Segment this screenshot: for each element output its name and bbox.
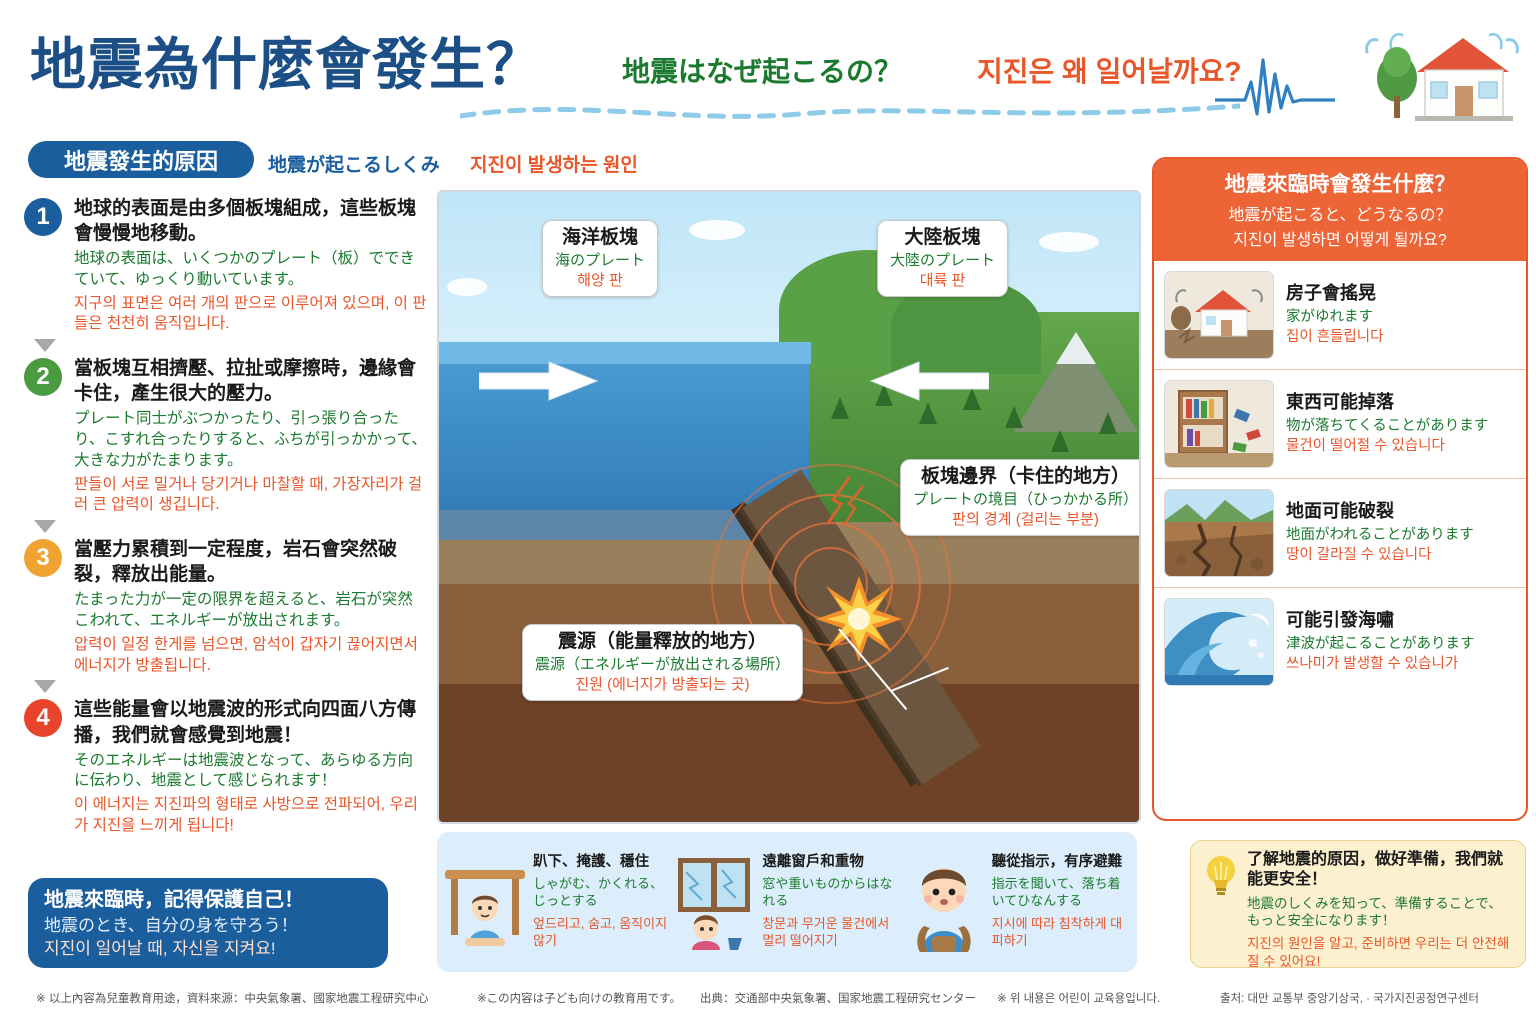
effect-text-zh: 地面可能破裂 [1286, 501, 1516, 523]
tip-text-ko: 지시에 따라 침착하게 대피하기 [992, 916, 1131, 950]
footer-note-ko: ※ 위 내용은 어린이 교육용입니다. [997, 990, 1160, 1006]
step-item: 2 當板塊互相擠壓、拉扯或摩擦時，邊緣會卡住，產生很大的壓力。 プレート同士がぶ… [24, 356, 428, 533]
label-text-zh: 震源（能量釋放的地方） [535, 631, 790, 654]
page-footer: ※ 以上內容為兒童教育用途，資料來源：中央氣象署、國家地震工程研究中心 ※この内… [0, 990, 1536, 1020]
effect-text-ja: 地面がわれることがあります [1286, 526, 1516, 545]
effect-text-ja: 津波が起こることがあります [1286, 635, 1516, 654]
label-continental-plate: 大陸板塊 大陸のプレート 대륙 판 [877, 220, 1008, 297]
tip-text-zh: 遠離窗戶和重物 [762, 854, 901, 871]
step-text-ja: そのエネルギーは地震波となって、あらゆる方向に伝わり、地震として感じられます！ [74, 751, 428, 793]
fault-crack-icon [819, 472, 879, 532]
footer-source-ja: 出典：交通部中央氣象署、国家地震工程研究センター [700, 990, 976, 1006]
effect-item: 地面可能破裂 地面がわれることがあります 땅이 갈라질 수 있습니다 [1154, 479, 1526, 588]
effect-text-ko: 물건이 떨어절 수 있습니다 [1286, 437, 1516, 456]
page-title-ja: 地震はなぜ起こるの？ [622, 50, 902, 90]
house-tree-icon [1355, 18, 1530, 133]
tree-icon [1099, 412, 1117, 434]
safety-tip-item: 聽從指示，有序避難 指示を聞いて、落ち着いてひなんする 지시에 따라 침착하게 … [902, 852, 1131, 952]
panel-title-ko: 지진이 발생하면 어떻게 될까요? [1164, 226, 1516, 250]
diagram-deep-layer [439, 684, 1141, 822]
label-text-zh: 板塊邊界（卡住的地方） [913, 466, 1138, 489]
panel-title-zh: 地震來臨時會發生什麼？ [1164, 168, 1516, 198]
oceanic-plate-slab [439, 510, 759, 540]
tip-text-ko: 엎드리고, 숨고, 움직이지 않기 [533, 916, 672, 950]
effect-text-ko: 집이 흔들립니다 [1286, 328, 1516, 347]
callout-text-ko: 지진이 일어날 때, 자신을 지켜요! [44, 938, 372, 960]
step-arrow-icon [34, 339, 56, 352]
falling-objects-icon [1164, 380, 1274, 468]
tree-icon [1005, 406, 1023, 428]
cloud-shape [1039, 232, 1099, 252]
step-text-zh: 地球的表面是由多個板塊組成，這些板塊會慢慢地移動。 [74, 196, 428, 246]
arrow-left-icon [869, 360, 989, 402]
tip-text-ja: 指示を聞いて、落ち着いてひなんする [992, 876, 1131, 910]
effect-text-zh: 房子會搖晃 [1286, 283, 1516, 305]
tree-icon [919, 402, 937, 424]
step-text-ko: 지구의 표면은 여러 개의 판으로 이루어져 있으며, 이 판들은 천천히 움직… [74, 294, 428, 336]
callout-text-ja: 地震のとき、自分の身を守ろう！ [44, 915, 372, 937]
footer-source-ko: 출처: 대만 교통부 중앙기상국, · 국가지진공정연구센터 [1220, 990, 1479, 1006]
label-text-ko: 해양 판 [555, 272, 645, 291]
callout-text-zh: 地震來臨時，記得保護自己！ [44, 888, 372, 913]
steps-list: 1 地球的表面是由多個板塊組成，這些板塊會慢慢地移動。 地球の表面は、いくつかの… [24, 196, 428, 841]
shaking-house-icon [1164, 271, 1274, 359]
ground-crack-icon [1164, 489, 1274, 577]
step-text-ja: たまった力が一定の限界を超えると、岩石が突然こわれて、エネルギーが放出されます。 [74, 590, 428, 632]
seismograph-wave-icon [1215, 52, 1335, 122]
protect-yourself-callout: 地震來臨時，記得保護自己！ 地震のとき、自分の身を守ろう！ 지진이 일어날 때,… [28, 878, 388, 968]
label-plate-boundary: 板塊邊界（卡住的地方） プレートの境目（ひっかかる所） 판의 경계 (걸리는 부… [900, 459, 1141, 536]
step-arrow-icon [34, 520, 56, 533]
footer-note-ja: ※この内容は子ども向けの教育用です。 [477, 990, 681, 1006]
note-text-ja: 地震のしくみを知って、準備することで、もっと安全になります！ [1247, 895, 1513, 930]
label-text-ja: 大陸のプレート [890, 252, 995, 271]
step-text-zh: 當板塊互相擠壓、拉扯或摩擦時，邊緣會卡住，產生很大的壓力。 [74, 356, 428, 406]
tree-icon [1051, 430, 1069, 452]
step-arrow-icon [34, 680, 56, 693]
step-item: 4 這些能量會以地震波的形式向四面八方傳播，我們就會感覺到地震！ そのエネルギー… [24, 697, 428, 836]
label-text-zh: 海洋板塊 [555, 227, 645, 250]
safety-tip-item: 趴下、掩護、穩住 しゃがむ、かくれる、じっとする 엎드리고, 숨고, 움직이지 … [443, 852, 672, 952]
safety-tip-item: 遠離窗戶和重物 窓や重いものからはなれる 창문과 무거운 물건에서 멀리 떨어지… [672, 852, 901, 952]
label-text-zh: 大陸板塊 [890, 227, 995, 250]
preparedness-note: 了解地震的原因，做好準備，我們就能更安全！ 地震のしくみを知って、準備することで… [1190, 840, 1526, 968]
effect-item: 東西可能掉落 物が落ちてくることがあります 물건이 떨어절 수 있습니다 [1154, 370, 1526, 479]
note-text-ko: 지진의 원인을 알고, 준비하면 우리는 더 안전해질 수 있어요! [1247, 935, 1513, 970]
effect-text-ja: 物が落ちてくることがあります [1286, 417, 1516, 436]
label-text-ja: プレートの境目（ひっかかる所） [913, 491, 1138, 510]
step-text-ja: 地球の表面は、いくつかのプレート（板）でできていて、ゆっくり動いています。 [74, 249, 428, 291]
tree-icon [831, 397, 849, 419]
arrow-right-icon [479, 360, 599, 402]
dashed-wave-divider [460, 96, 1240, 126]
label-text-ko: 진원 (에너지가 방출되는 곳) [535, 676, 790, 695]
section-pill-causes: 地震發生的原因 [28, 141, 254, 178]
label-focus-hypocenter: 震源（能量釋放的地方） 震源（エネルギーが放出される場所） 진원 (에너지가 방… [522, 624, 803, 701]
label-text-ko: 대륙 판 [890, 272, 995, 291]
plate-tectonics-diagram: 海洋板塊 海のプレート 해양 판 大陸板塊 大陸のプレート 대륙 판 板塊邊界（… [437, 190, 1141, 824]
tip-text-ko: 창문과 무거운 물건에서 멀리 떨어지기 [762, 916, 901, 950]
step-item: 1 地球的表面是由多個板塊組成，這些板塊會慢慢地移動。 地球の表面は、いくつかの… [24, 196, 428, 352]
effect-item: 可能引發海嘯 津波が起こることがあります 쓰나미가 발생할 수 있습니가 [1154, 588, 1526, 696]
section-label-ja: 地震が起こるしくみ [268, 150, 440, 177]
section-label-ko: 지진이 발생하는 원인 [470, 150, 638, 177]
evacuating-boy-icon [902, 852, 986, 952]
tip-text-zh: 聽從指示，有序避難 [992, 854, 1131, 871]
effect-text-ko: 땅이 갈라질 수 있습니다 [1286, 546, 1516, 565]
lightbulb-icon [1201, 850, 1241, 958]
volcano-snowcap [1056, 332, 1096, 364]
effect-item: 房子會搖晃 家がゆれます 집이 흔들립니다 [1154, 261, 1526, 370]
step-number-badge: 2 [24, 358, 62, 396]
effect-text-zh: 可能引發海嘯 [1286, 610, 1516, 632]
step-number-badge: 4 [24, 699, 62, 737]
infographic-root: 地震為什麼會發生？ 地震はなぜ起こるの？ 지진은 왜 일어날까요? 地震發生的原… [0, 0, 1536, 1024]
earthquake-effects-panel: 地震來臨時會發生什麼？ 地震が起こると、どうなるの？ 지진이 발생하면 어떻게 … [1152, 157, 1528, 821]
tip-text-zh: 趴下、掩護、穩住 [533, 854, 672, 871]
tsunami-wave-icon [1164, 598, 1274, 686]
tip-text-ja: しゃがむ、かくれる、じっとする [533, 876, 672, 910]
step-text-zh: 這些能量會以地震波的形式向四面八方傳播，我們就會感覺到地震！ [74, 697, 428, 747]
step-number-badge: 3 [24, 539, 62, 577]
panel-header: 地震來臨時會發生什麼？ 地震が起こると、どうなるの？ 지진이 발생하면 어떻게 … [1154, 159, 1526, 261]
under-table-icon [443, 852, 527, 952]
label-ocean-plate: 海洋板塊 海のプレート 해양 판 [542, 220, 658, 297]
step-text-ko: 압력이 일정 한게를 넘으면, 암석이 갑자기 끊어지면서 에너지가 방출됩니다… [74, 635, 428, 677]
footer-note-zh: ※ 以上內容為兒童教育用途，資料來源：中央氣象署、國家地震工程研究中心 [36, 990, 428, 1006]
label-text-ja: 震源（エネルギーが放出される場所） [535, 656, 790, 675]
tip-text-ja: 窓や重いものからはなれる [762, 876, 901, 910]
label-text-ja: 海のプレート [555, 252, 645, 271]
note-text-zh: 了解地震的原因，做好準備，我們就能更安全！ [1247, 850, 1513, 891]
page-title-ko: 지진은 왜 일어날까요? [977, 50, 1242, 90]
page-title-zh: 地震為什麼會發生？ [30, 20, 543, 101]
broken-window-icon [672, 852, 756, 952]
step-text-ko: 이 에너지는 지진파의 형태로 사방으로 전파되어, 우리가 지진을 느끼게 됩… [74, 795, 428, 837]
label-text-ko: 판의 경계 (걸리는 부분) [913, 511, 1138, 530]
effect-text-ja: 家がゆれます [1286, 308, 1516, 327]
effect-text-ko: 쓰나미가 발생할 수 있습니가 [1286, 655, 1516, 674]
cloud-shape [447, 278, 487, 296]
effect-text-zh: 東西可能掉落 [1286, 392, 1516, 414]
step-text-ja: プレート同士がぶつかったり、引っ張り合ったり、こすれ合ったりすると、ふちが引っか… [74, 409, 428, 471]
step-text-ko: 판들이 서로 밀거나 당기거나 마찰할 때, 가장자리가 걸러 큰 압력이 생깁… [74, 475, 428, 517]
cloud-shape [689, 220, 745, 240]
step-text-zh: 當壓力累積到一定程度，岩石會突然破裂，釋放出能量。 [74, 537, 428, 587]
safety-tips-bar: 趴下、掩護、穩住 しゃがむ、かくれる、じっとする 엎드리고, 숨고, 움직이지 … [437, 832, 1137, 972]
step-item: 3 當壓力累積到一定程度，岩石會突然破裂，釋放出能量。 たまった力が一定の限界を… [24, 537, 428, 693]
page-header: 地震為什麼會發生？ 地震はなぜ起こるの？ 지진은 왜 일어날까요? [0, 0, 1536, 140]
step-number-badge: 1 [24, 198, 62, 236]
panel-title-ja: 地震が起こると、どうなるの？ [1164, 201, 1516, 225]
